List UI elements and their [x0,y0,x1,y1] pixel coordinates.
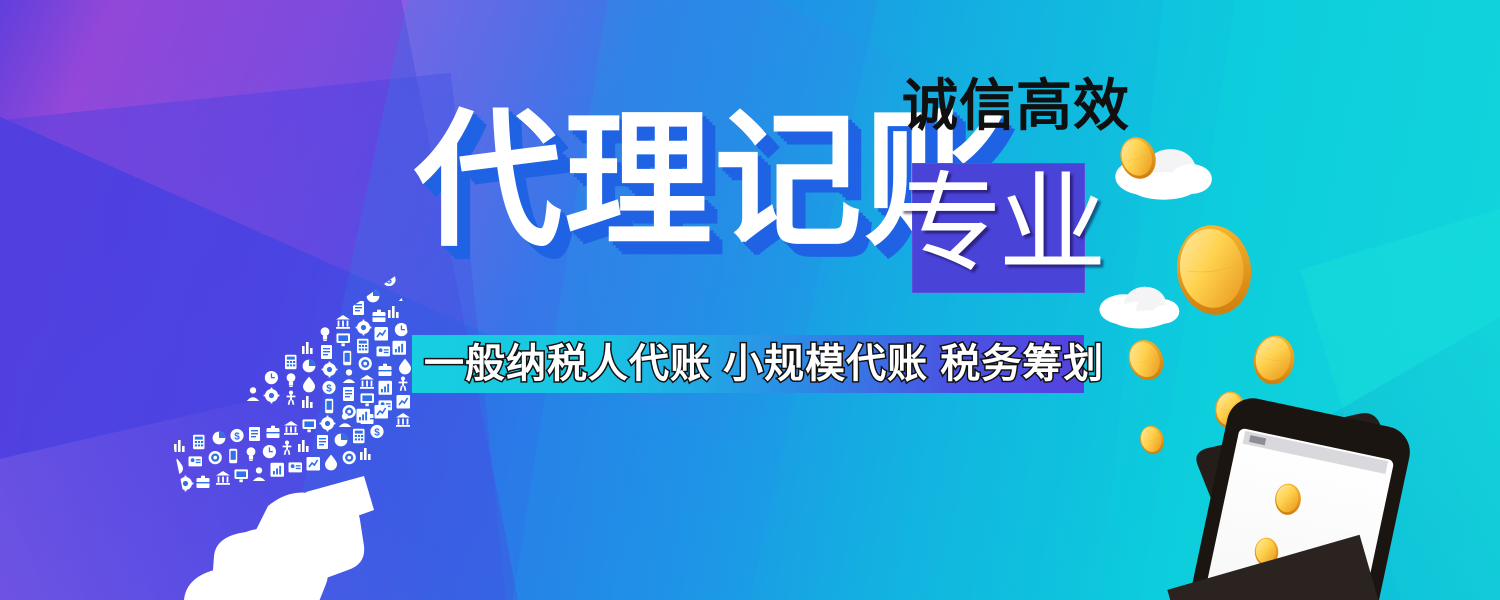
badge-label: 专业 [895,170,1103,278]
services-bar: 一般纳税人代账 小规模代账 税务筹划 [412,335,1084,393]
coin-icon [1250,332,1298,387]
coin-icon [1123,335,1169,385]
icon-cluster-megaphone: $ [150,270,510,600]
smartphone [1164,393,1415,600]
phone-coins-artwork [1090,110,1500,600]
coin-icon [1137,423,1167,456]
promotional-banner: $ [0,0,1500,600]
status-badge: 专业 [912,163,1085,293]
coin-icon [1171,220,1257,319]
hand-holding-megaphone [154,476,374,600]
services-label: 一般纳税人代账 小规模代账 税务筹划 [424,344,1104,384]
